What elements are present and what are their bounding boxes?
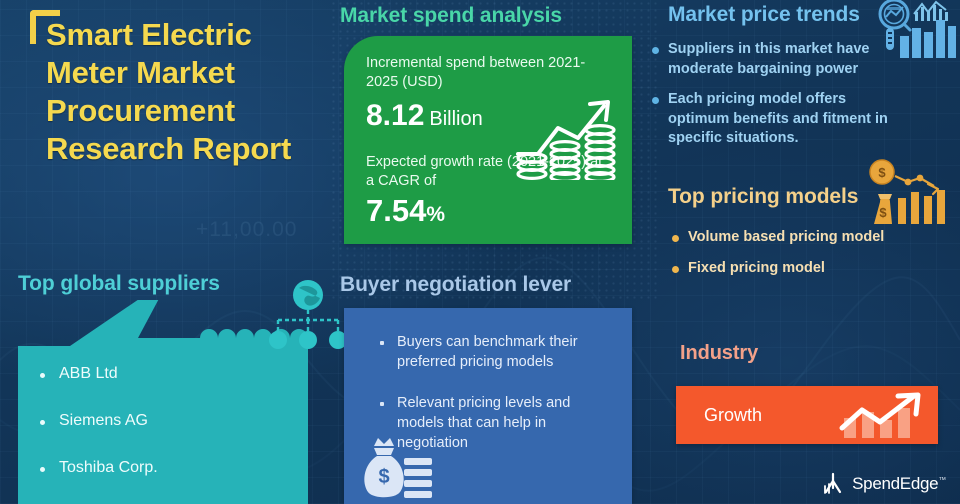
pricing-models-bullet-list: Volume based pricing model Fixed pricing… (672, 228, 918, 289)
list-item: Toshiba Corp. (40, 458, 290, 478)
bullet-dot-icon (380, 341, 384, 345)
svg-text:$: $ (378, 466, 389, 488)
bullet-dot-icon (40, 467, 45, 472)
price-trends-bullet-list: Suppliers in this market have moderate b… (652, 40, 910, 160)
industry-status-badge: Growth (676, 386, 938, 444)
cagr-value-row: 7.54% (366, 193, 614, 233)
buyer-negotiation-card: Buyers can benchmark their preferred pri… (344, 308, 632, 504)
incremental-spend-unit: Billion (429, 108, 482, 130)
logo-wordmark: SpendEdge (852, 474, 938, 493)
bullet-dot-icon (40, 373, 45, 378)
bullet-dot-icon (40, 420, 45, 425)
bullet-dot-icon (652, 47, 659, 54)
section-heading-price-trends: Market price trends (668, 3, 860, 27)
bullet-text: Buyers can benchmark their preferred pri… (397, 332, 620, 372)
top-global-suppliers-card: ABB Ltd Siemens AG Toshiba Corp. (18, 300, 308, 504)
suppliers-list: ABB Ltd Siemens AG Toshiba Corp. (40, 364, 290, 504)
list-item: Volume based pricing model (672, 228, 918, 248)
cagr-value: 7.54 (366, 193, 426, 228)
trademark-symbol: ™ (938, 475, 946, 484)
supplier-name: ABB Ltd (59, 364, 118, 384)
growth-arrow-chart-icon (838, 392, 930, 440)
list-item: Fixed pricing model (672, 259, 918, 279)
money-bar-chart-decline-icon: $ $ (868, 158, 948, 230)
money-bag-icon: $ (358, 438, 434, 500)
section-heading-market-spend: Market spend analysis (340, 4, 562, 28)
section-heading-suppliers: Top global suppliers (18, 272, 220, 296)
list-item: Siemens AG (40, 411, 290, 431)
section-heading-pricing-models: Top pricing models (668, 185, 858, 209)
page-title: Smart Electric Meter Market Procurement … (34, 16, 334, 168)
incremental-spend-label: Incremental spend between 2021-2025 (USD… (366, 54, 614, 92)
report-title-block: Smart Electric Meter Market Procurement … (34, 16, 334, 168)
bullet-dot-icon (672, 235, 679, 242)
logo-text: SpendEdge™ (852, 474, 946, 494)
bullet-dot-icon (652, 97, 659, 104)
industry-status-label: Growth (704, 405, 762, 426)
list-item: Each pricing model offers optimum benefi… (652, 90, 910, 149)
list-item: ABB Ltd (40, 364, 290, 384)
bullet-text: Each pricing model offers optimum benefi… (668, 90, 910, 149)
section-heading-buyer-negotiation: Buyer negotiation lever (340, 273, 571, 297)
supplier-name: Toshiba Corp. (59, 458, 158, 478)
bullet-dot-icon (380, 402, 384, 406)
spendedge-logo: SpendEdge™ (821, 472, 946, 496)
list-item: Buyers can benchmark their preferred pri… (380, 332, 620, 372)
list-item: Suppliers in this market have moderate b… (652, 40, 910, 79)
cagr-unit: % (426, 203, 445, 226)
svg-text:$: $ (879, 205, 887, 220)
coins-growth-icon (512, 94, 618, 180)
incremental-spend-value: 8.12 (366, 99, 424, 132)
supplier-name: Siemens AG (59, 411, 148, 431)
svg-text:$: $ (878, 165, 886, 180)
spendedge-mark-icon (821, 472, 845, 496)
bullet-text: Suppliers in this market have moderate b… (668, 40, 910, 79)
bullet-dot-icon (672, 266, 679, 273)
background-ghost-number: +11,00.00 (196, 218, 297, 242)
global-network-icon (266, 278, 350, 354)
section-heading-industry: Industry (680, 342, 758, 365)
corner-bracket-accent (30, 10, 60, 44)
market-spend-card: Incremental spend between 2021-2025 (USD… (344, 36, 632, 244)
bullet-text: Fixed pricing model (688, 259, 825, 279)
bullet-text: Volume based pricing model (688, 228, 884, 248)
infographic-canvas: +11,00.00 Smart Electric Meter Market Pr… (0, 0, 960, 504)
